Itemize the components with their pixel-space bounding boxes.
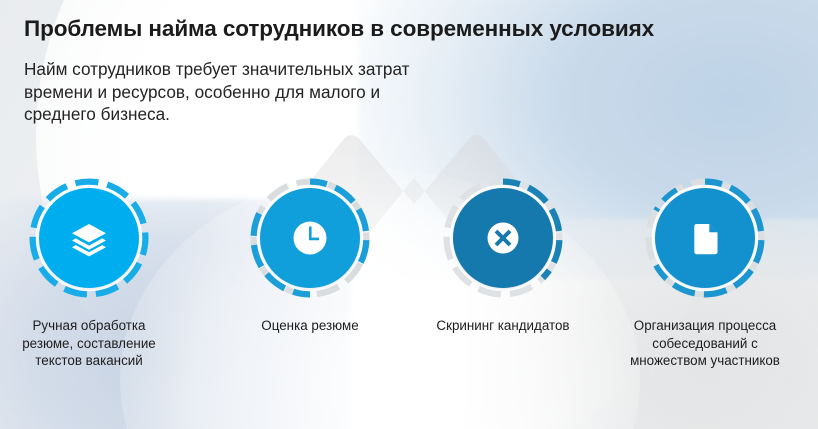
clock-icon <box>287 215 333 261</box>
document-icon <box>682 215 728 261</box>
page-subtitle: Найм сотрудников требует значительных за… <box>24 58 410 126</box>
icon-disc <box>453 188 553 288</box>
item-interview-organization[interactable]: Организация процесса собеседований с мно… <box>605 176 805 370</box>
icon-disc <box>39 188 139 288</box>
item-caption: Оценка резюме <box>210 317 410 335</box>
icon-badge[interactable] <box>643 176 767 300</box>
slide-canvas: Проблемы найма сотрудников в современных… <box>0 0 818 429</box>
icon-badge[interactable] <box>441 176 565 300</box>
item-caption: Скрининг кандидатов <box>403 317 603 335</box>
item-resume-evaluation[interactable]: Оценка резюме <box>210 176 410 335</box>
close-x-icon <box>480 215 526 261</box>
item-caption: Ручная обработка резюме, составление тек… <box>0 317 189 370</box>
item-manual-processing[interactable]: Ручная обработка резюме, составление тек… <box>0 176 189 370</box>
icon-disc <box>260 188 360 288</box>
page-title: Проблемы найма сотрудников в современных… <box>24 16 654 42</box>
icon-badge[interactable] <box>248 176 372 300</box>
item-candidate-screening[interactable]: Скрининг кандидатов <box>403 176 603 335</box>
icon-disc <box>655 188 755 288</box>
icon-badge[interactable] <box>27 176 151 300</box>
item-caption: Организация процесса собеседований с мно… <box>605 317 805 370</box>
layers-icon <box>66 215 112 261</box>
